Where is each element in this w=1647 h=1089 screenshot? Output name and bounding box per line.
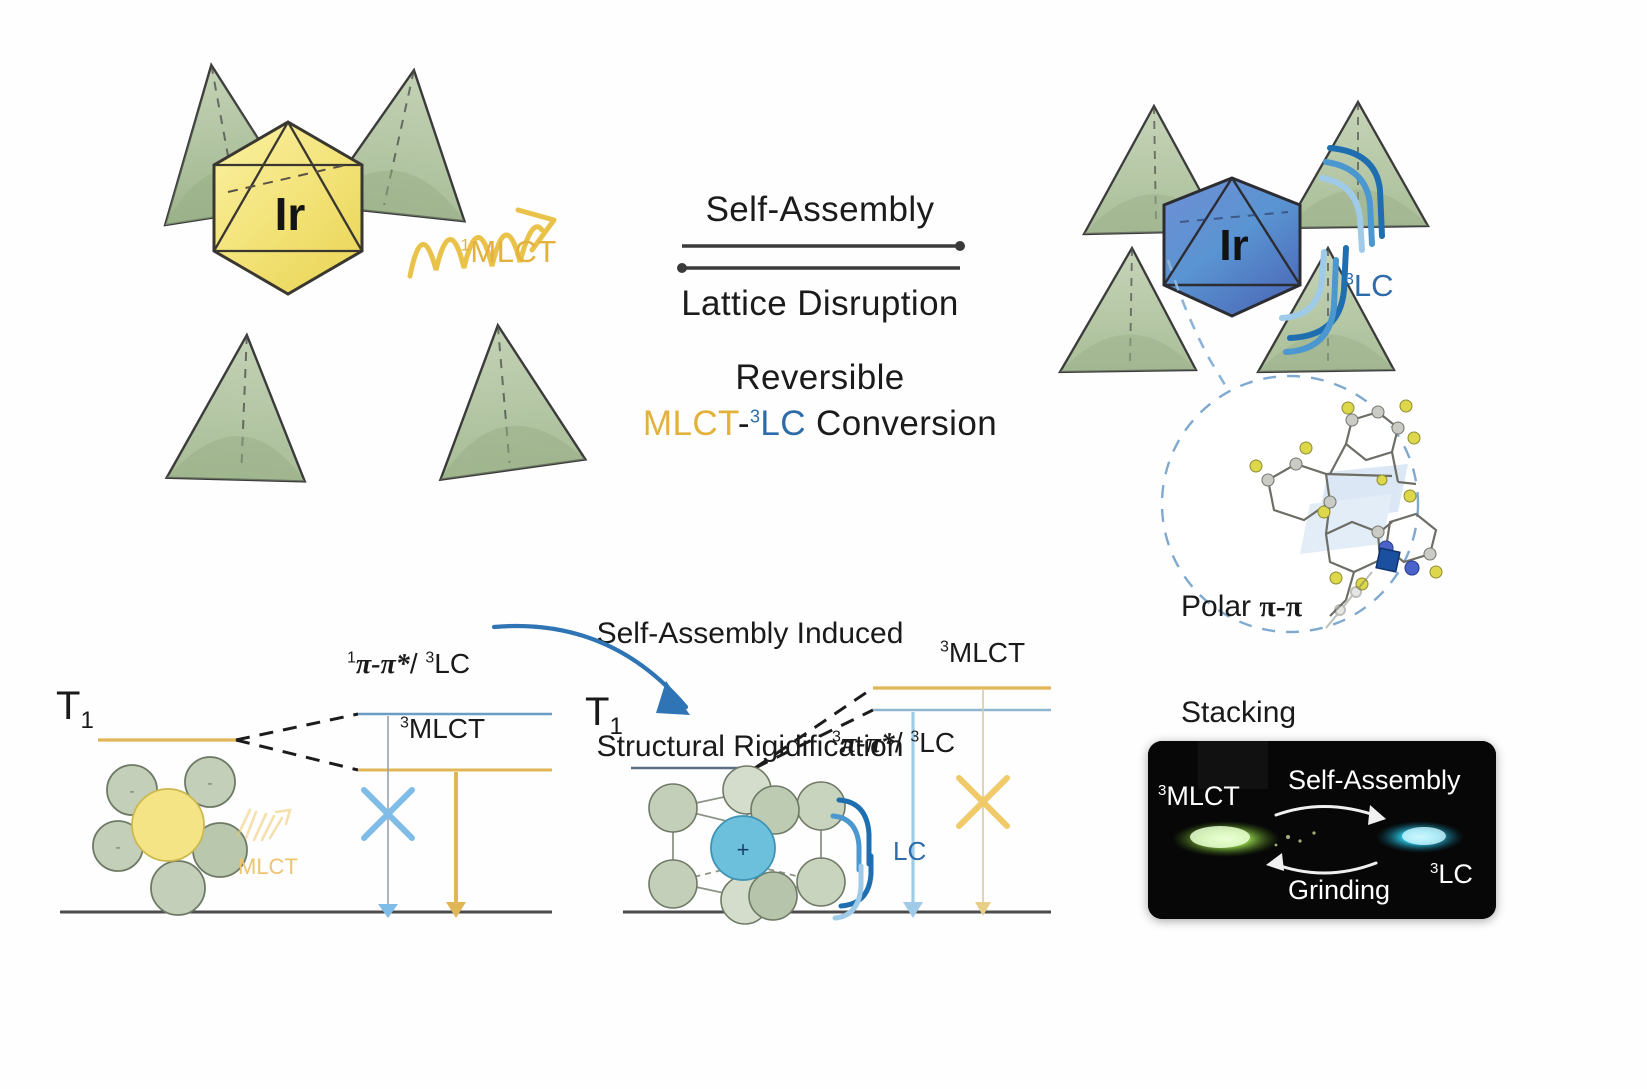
t1-label-right: T1 (585, 690, 623, 741)
panel-label-grinding: Grinding (1288, 875, 1390, 906)
energy-diagram-left: - - - MLCT (40, 660, 570, 930)
upper-state-label-right: 3MLCT (940, 637, 1025, 669)
self-assembly-label: Self-Assembly (620, 190, 1020, 230)
photo-panel: 3MLCT Self-Assembly Grinding 3LC (1148, 741, 1496, 919)
ir-label-left: Ir (275, 188, 306, 240)
panel-label-self-assembly: Self-Assembly (1288, 765, 1461, 796)
conversion-label: MLCT-3LC Conversion (620, 404, 1020, 444)
split-dash-upper (236, 714, 358, 740)
svg-text:-: - (116, 839, 121, 856)
lower-state-label-left: 3MLCT (400, 713, 485, 745)
figure-canvas: Ir 1MLCT Self-Assembly Lattice Disruptio… (0, 0, 1647, 1089)
lower-state-label-right: 3π-π*/ 3LC (832, 727, 955, 760)
lc-ribbons-right (833, 800, 871, 918)
mlct-mini-squiggle-left (238, 810, 290, 840)
cluster-charge-label: + (737, 837, 750, 862)
rigid-lattice-right: + (649, 766, 845, 924)
reversible-label: Reversible (620, 358, 1020, 398)
conversion-dash: - (738, 404, 750, 443)
conversion-mlct: MLCT (643, 404, 738, 443)
iridium-polyhedron-blue: Ir (1164, 178, 1300, 316)
conversion-lc: LC (760, 404, 806, 443)
blocked-arrow-head-right (975, 902, 991, 916)
energy-diagram-right: + LC (615, 660, 1065, 930)
center-reaction-text: Self-Assembly Lattice Disruption Reversi… (620, 190, 1020, 444)
upper-state-label-left: 1π-π*/ 3LC (347, 648, 470, 681)
lattice-disruption-label: Lattice Disruption (620, 284, 1020, 324)
emission-arrow-head-right (903, 902, 923, 918)
tetrahedron (167, 330, 315, 487)
mlct-mini-label-left: MLCT (238, 854, 298, 879)
mlct-label-left: 1MLCT (424, 198, 557, 306)
ir-label-right: Ir (1219, 221, 1248, 270)
panel-label-mlct: 3MLCT (1158, 781, 1240, 812)
iridium-atom (1376, 548, 1400, 572)
tetrahedron (430, 320, 586, 480)
emission-arrow-head-left (446, 902, 466, 918)
t1-label-left: T1 (56, 684, 94, 735)
split-dash-lower (236, 740, 358, 770)
right-assembled-scene: Ir (1000, 60, 1420, 400)
double-arrow (620, 232, 1020, 288)
conversion-sup: 3 (750, 406, 760, 426)
lc-label-right: 3LC (1310, 232, 1394, 340)
svg-text:-: - (130, 783, 135, 800)
loose-cluster-left: - - - (93, 757, 247, 915)
panel-label-lc: 3LC (1430, 859, 1473, 890)
conversion-word: Conversion (806, 404, 997, 443)
lc-mini-label-right: LC (893, 836, 926, 866)
svg-text:-: - (208, 775, 213, 792)
